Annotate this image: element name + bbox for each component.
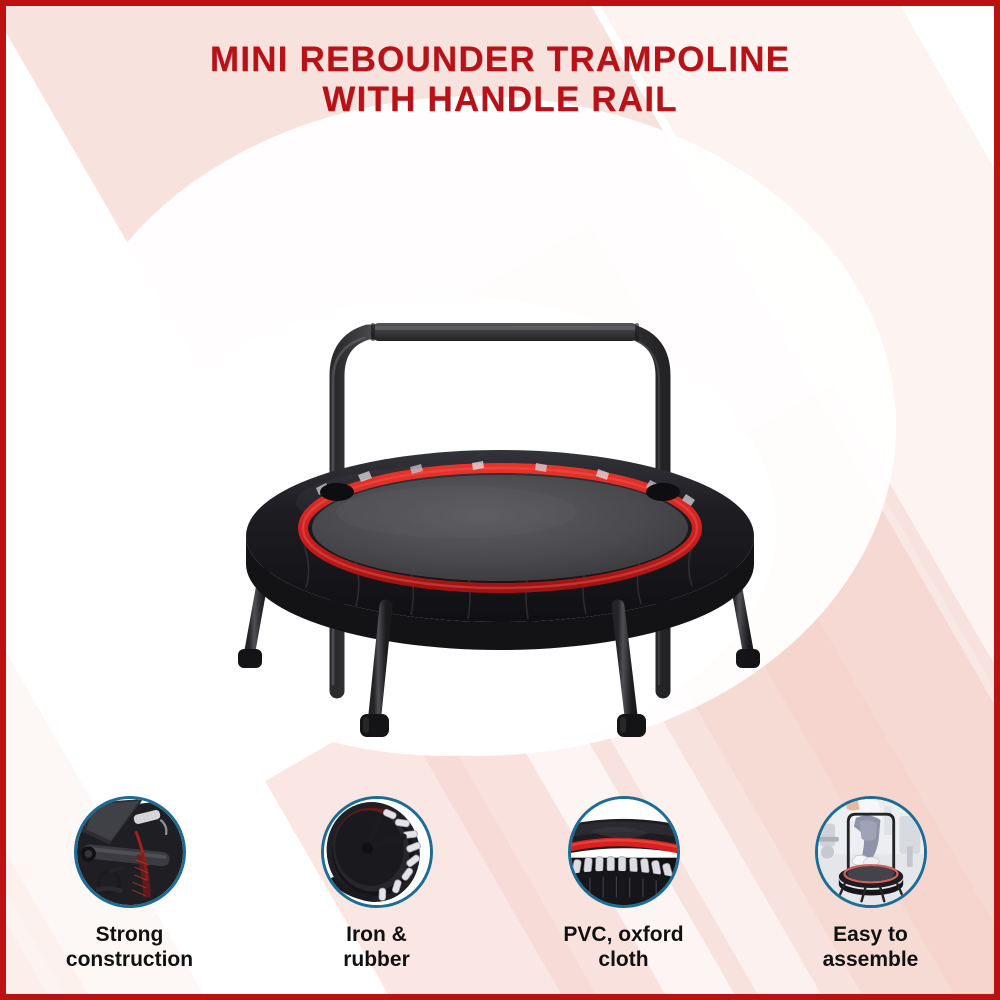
feature-image-pvc-oxford-cloth xyxy=(568,796,680,908)
feature-label-pvc-oxford-cloth: PVC, oxford cloth xyxy=(563,922,683,972)
feature-image-iron-and-rubber xyxy=(321,796,433,908)
feature-image-strong-construction xyxy=(74,796,186,908)
rubber-feet-back xyxy=(238,649,760,668)
product-marketing-image: MINI REBOUNDER TRAMPOLINE WITH HANDLE RA… xyxy=(0,0,1000,1000)
product-hero-image xyxy=(6,136,994,756)
foam-grip xyxy=(371,323,639,341)
feature-strong-construction: Strong construction xyxy=(6,796,253,972)
page-title: MINI REBOUNDER TRAMPOLINE WITH HANDLE RA… xyxy=(6,40,994,120)
feature-highlights-row: Strong construction xyxy=(6,796,994,972)
feature-easy-to-assemble: Easy to assemble xyxy=(747,796,994,972)
trampoline-illustration xyxy=(6,136,994,756)
title-line-1: MINI REBOUNDER TRAMPOLINE xyxy=(6,40,994,80)
in-use-gym-photo-icon xyxy=(818,799,924,905)
jump-mat xyxy=(312,475,688,581)
folded-frame-photo-icon xyxy=(77,799,183,905)
frame-springs-photo-icon xyxy=(324,799,430,905)
feature-image-easy-to-assemble xyxy=(815,796,927,908)
feature-pvc-oxford-cloth: PVC, oxford cloth xyxy=(500,796,747,972)
feature-label-easy-to-assemble: Easy to assemble xyxy=(823,922,919,972)
feature-iron-and-rubber: Iron & rubber xyxy=(253,796,500,972)
feature-label-strong-construction: Strong construction xyxy=(66,922,193,972)
title-line-2: WITH HANDLE RAIL xyxy=(6,80,994,120)
feature-label-iron-and-rubber: Iron & rubber xyxy=(343,922,410,972)
rubber-feet-front xyxy=(360,714,646,737)
mat-edge-trim-photo-icon xyxy=(571,799,677,905)
